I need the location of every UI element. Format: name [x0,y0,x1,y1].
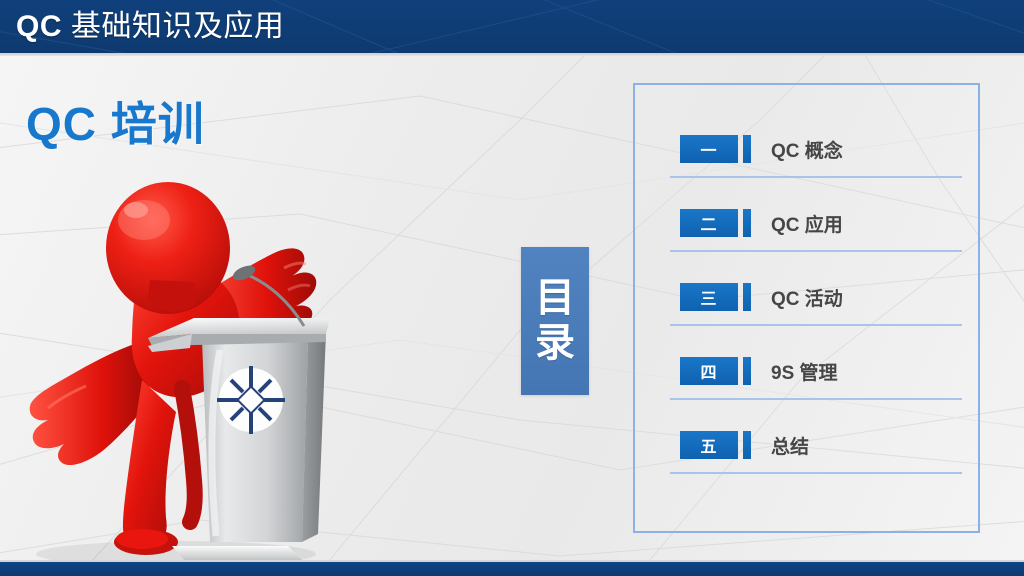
toc-item-5-number: 五 [680,431,738,459]
toc-item-3-number: 三 [680,283,738,311]
toc-item-2-number: 二 [680,209,738,237]
toc-item-5-label: 总结 [771,429,809,461]
toc-item-2-label: QC 应用 [771,207,843,239]
red-speaker-mascot-illustration [0,150,356,570]
toc-item-2-divider [670,250,962,252]
toc-tab-label: 目 录 [521,247,589,395]
header-title: QC 基础知识及应用 [16,8,284,46]
toc-item-4-label: 9S 管理 [771,355,838,387]
slide-footer-bar [0,562,1024,576]
mascot-right-leg [182,388,195,522]
toc-item-5-accent-bar [743,431,751,459]
header-title-cn: 基础知识及应用 [71,10,285,43]
toc-item-2[interactable]: 二 QC 应用 [680,201,965,275]
toc-item-5-divider [670,472,962,474]
toc-item-3-accent-bar [743,283,751,311]
presentation-slide: QC 基础知识及应用 QC 培训 [0,0,1024,576]
toc-item-1-label: QC 概念 [771,133,843,165]
toc-tab-char-2: 录 [535,321,575,366]
toc-item-4-divider [670,398,962,400]
toc-item-4-accent-bar [743,357,751,385]
toc-item-1-number: 一 [680,135,738,163]
toc-item-4[interactable]: 四 9S 管理 [680,349,965,423]
toc-item-5[interactable]: 五 总结 [680,423,965,497]
toc-item-2-accent-bar [743,209,751,237]
toc-item-4-number: 四 [680,357,738,385]
toc-item-1-divider [670,176,962,178]
toc-tab-char-1: 目 [535,276,575,321]
toc-list: 一 QC 概念 二 QC 应用 三 QC 活动 四 9S 管理 五 总结 [680,127,965,497]
toc-item-3[interactable]: 三 QC 活动 [680,275,965,349]
toc-item-1-accent-bar [743,135,751,163]
header-title-en: QC [16,10,62,43]
header-underline [0,53,1024,56]
toc-item-3-label: QC 活动 [771,281,843,313]
toc-item-3-divider [670,324,962,326]
slide-title: QC 培训 [26,88,205,154]
slide-header-bar: QC 基础知识及应用 [0,0,1024,53]
toc-item-1[interactable]: 一 QC 概念 [680,127,965,201]
